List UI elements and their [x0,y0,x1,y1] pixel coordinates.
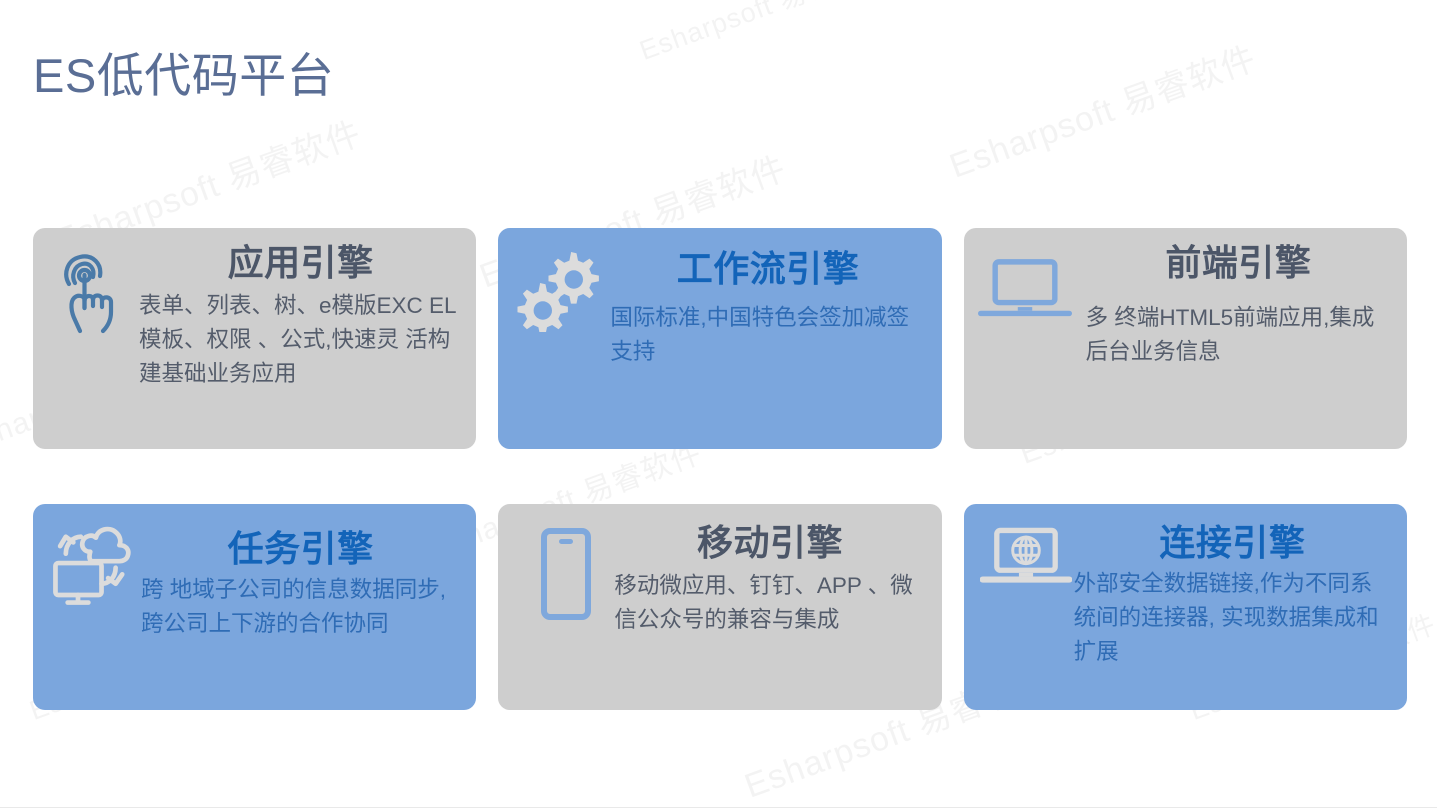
card-text: 外部安全数据链接,作为不同系统间的连接器, 实现数据集成和扩展 [1074,567,1391,670]
card-body: 移动引擎 移动微应用、钉钉、APP 、微信公众号的兼容与集成 [606,504,941,637]
card-frontend-engine[interactable]: 前端引擎 多 终端HTML5前端应用,集成后台业务信息 [964,228,1407,449]
card-text: 表单、列表、树、e模版EXC EL模板、权限 、公式,快速灵 活构建基础业务应用 [139,289,460,392]
card-heading: 工作流引擎 [610,246,925,291]
card-text: 移动微应用、钉钉、APP 、微信公众号的兼容与集成 [614,569,925,637]
gears-icon [498,228,606,332]
card-body: 应用引擎 表单、列表、树、e模版EXC EL模板、权限 、公式,快速灵 活构建基… [141,228,476,392]
card-row-top: 应用引擎 表单、列表、树、e模版EXC EL模板、权限 、公式,快速灵 活构建基… [33,228,1407,449]
laptop-globe-icon [964,504,1072,590]
card-body: 任务引擎 跨 地域子公司的信息数据同步,跨公司上下游的合作协同 [141,504,476,641]
card-text: 跨 地域子公司的信息数据同步,跨公司上下游的合作协同 [141,573,460,641]
card-row-bottom: 任务引擎 跨 地域子公司的信息数据同步,跨公司上下游的合作协同 移动引擎 移 [33,504,1407,710]
tap-hand-icon [33,228,141,336]
card-heading: 前端引擎 [1086,240,1391,285]
cloud-sync-monitor-icon [33,504,141,608]
card-heading: 连接引擎 [1074,520,1391,565]
feature-card-grid: 应用引擎 表单、列表、树、e模版EXC EL模板、权限 、公式,快速灵 活构建基… [33,228,1407,710]
card-heading: 应用引擎 [141,240,460,285]
smartphone-icon [498,504,606,620]
card-text: 多 终端HTML5前端应用,集成后台业务信息 [1086,301,1391,369]
card-heading: 移动引擎 [614,520,925,565]
card-application-engine[interactable]: 应用引擎 表单、列表、树、e模版EXC EL模板、权限 、公式,快速灵 活构建基… [33,228,476,449]
slide-canvas: Esharpsoft 易睿软件 Esharpsoft 易睿软件 Esharpso… [0,0,1437,808]
watermark-text: Esharpsoft 易睿软件 [942,31,1262,188]
card-body: 前端引擎 多 终端HTML5前端应用,集成后台业务信息 [1072,228,1407,369]
page-title: ES低代码平台 [33,49,334,103]
card-task-engine[interactable]: 任务引擎 跨 地域子公司的信息数据同步,跨公司上下游的合作协同 [33,504,476,710]
card-connection-engine[interactable]: 连接引擎 外部安全数据链接,作为不同系统间的连接器, 实现数据集成和扩展 [964,504,1407,710]
laptop-icon [964,228,1072,322]
watermark-text: Esharpsoft 易睿软件 [633,0,890,68]
card-body: 工作流引擎 国际标准,中国特色会签加减签支持 [606,228,941,369]
card-workflow-engine[interactable]: 工作流引擎 国际标准,中国特色会签加减签支持 [498,228,941,449]
card-heading: 任务引擎 [141,526,460,571]
card-body: 连接引擎 外部安全数据链接,作为不同系统间的连接器, 实现数据集成和扩展 [1072,504,1407,670]
card-mobile-engine[interactable]: 移动引擎 移动微应用、钉钉、APP 、微信公众号的兼容与集成 [498,504,941,710]
card-text: 国际标准,中国特色会签加减签支持 [610,301,925,369]
